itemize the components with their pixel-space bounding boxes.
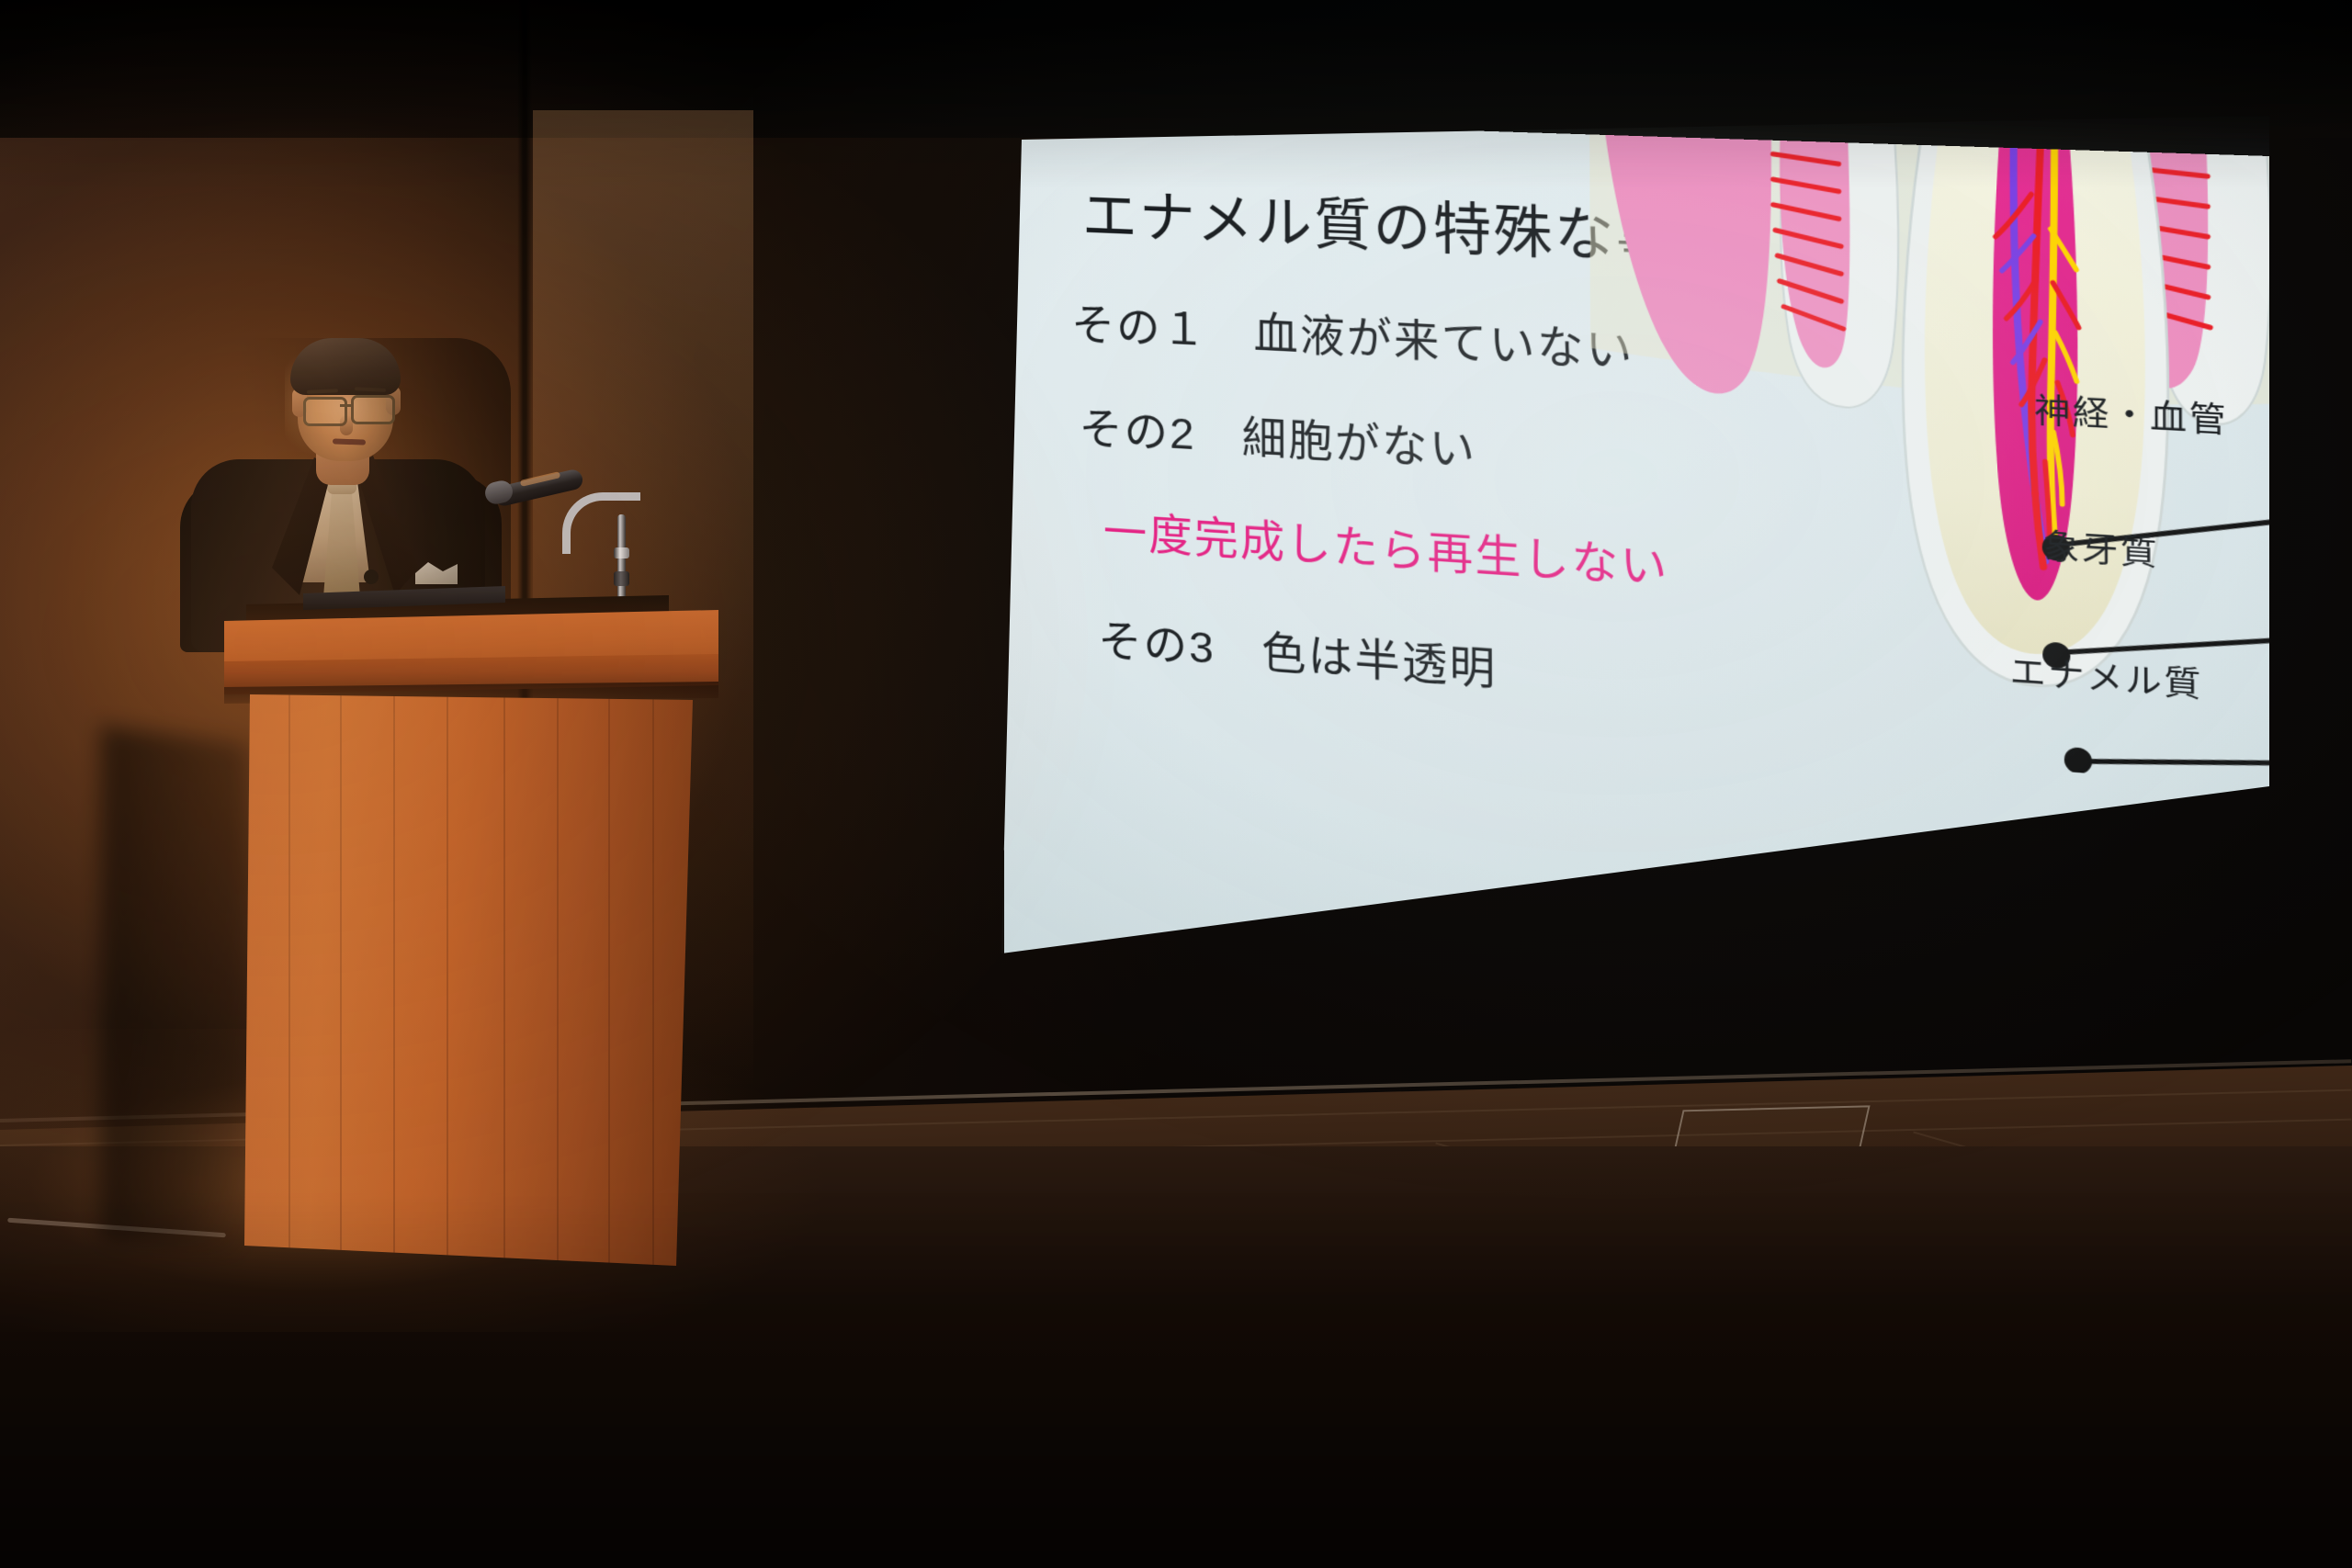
slide-bullet-3: その3 色は半透明: [1098, 604, 1497, 697]
podium-sheen: [244, 694, 693, 1266]
podium-shadow: [101, 726, 248, 1258]
diagram-label-dentin: 象牙質: [2043, 519, 2159, 575]
tooth-cross-section-svg: [1589, 119, 2352, 797]
eyeglasses-bridge: [340, 404, 353, 407]
projection-screen: エナメル質の特殊な事情 その１ 血液が来ていない その2 細胞がない 一度完成し…: [1001, 116, 2269, 851]
eyeglasses-lens-right: [351, 395, 395, 424]
diagram-label-nerve-vessel: 神経・血管: [2034, 383, 2228, 442]
tooth-diagram: [1589, 119, 2352, 797]
slide-bullet-1: その１ 血液が来ていない: [1071, 288, 1634, 379]
speaker-mouth: [333, 438, 366, 445]
presentation-scene: エナメル質の特殊な事情 その１ 血液が来ていない その2 細胞がない 一度完成し…: [0, 0, 2352, 1568]
speaker-hair: [290, 338, 401, 395]
speaker-nose: [340, 415, 353, 435]
callout-dot-enamel: [2064, 747, 2092, 775]
slide-bullet-2: その2 細胞がない: [1079, 391, 1476, 479]
microphone-joint: [614, 571, 629, 586]
slide-highlight-line: 一度完成したら再生しない: [1103, 495, 1669, 597]
lapel-mic-clip: [364, 570, 379, 584]
